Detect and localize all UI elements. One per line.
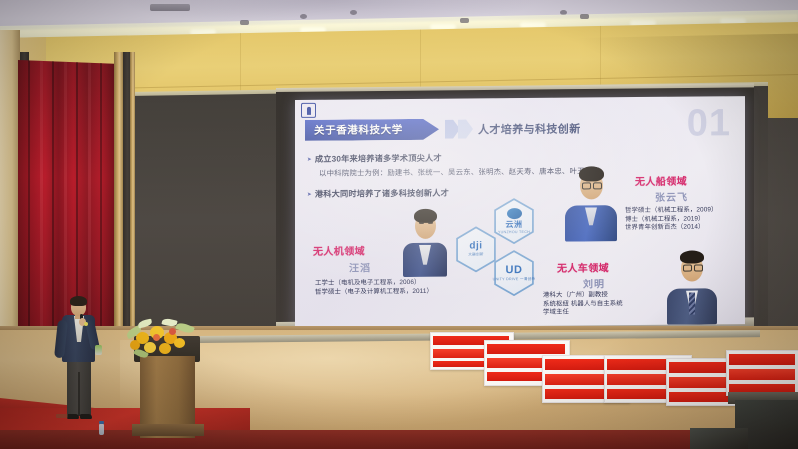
portrait-photo-wang (403, 207, 447, 277)
slide-title: 关于香港科技大学 (314, 122, 403, 138)
water-bottle-cap (99, 421, 104, 424)
podium-base (132, 424, 204, 436)
chevron-right-icon (445, 120, 460, 139)
equipment-case-2 (690, 428, 748, 449)
ceiling-fixture-icon (460, 18, 469, 23)
speaker-lapel-badge (84, 322, 88, 326)
ceiling-fixture-icon (240, 20, 249, 25)
profile-credentials-wang: 工学士（电机及电子工程系，2006） 哲学硕士（电子及计算机工程系，2011） (315, 279, 433, 297)
profile-name-liu: 刘明 (583, 275, 605, 290)
banner-panel (726, 350, 798, 396)
portrait-photo-liu (667, 248, 717, 324)
hkust-logo-icon (301, 103, 316, 118)
dji-logo-subtext: 大疆创新 (468, 252, 484, 257)
profile-domain-vehicle: 无人车领域 (557, 259, 609, 274)
ceiling-fixture-icon (580, 14, 589, 19)
unity-drive-logo-hex: UD UNITY DRIVE 一清创新 (491, 250, 537, 296)
profile-name-zhang: 张云飞 (655, 189, 688, 204)
presentation-photo-scene: 关于香港科技大学 人才培养与科技创新 01 成立30年来培养诸多学术顶尖人才 以… (0, 0, 798, 449)
speaker-shoe-left (67, 414, 79, 419)
profile-domain-drone: 无人机领域 (313, 242, 365, 257)
presenter-clicker-icon (95, 345, 102, 355)
slide-sub-line: 以中科院院士为例：励建书、张统一、吴云东、张明杰、赵天寿、唐本忠、叶玉如等 (319, 165, 600, 178)
stage-front-band (0, 430, 798, 449)
profile-name-wang: 汪滔 (349, 259, 371, 274)
portrait-photo-zhang (565, 163, 617, 241)
slide-bullet-1: 成立30年来培养诸多学术顶尖人才 (307, 152, 442, 165)
speaker-leg-gap (78, 372, 80, 416)
unity-drive-logo-text: UD (506, 265, 523, 276)
section-number-watermark: 01 (687, 104, 731, 142)
water-bottle (99, 424, 104, 435)
profile-domain-vessel: 无人船领域 (635, 173, 687, 188)
profile-credentials-zhang: 哲学硕士（机械工程系，2009） 博士（机械工程系，2019） 世界青年创新百杰… (625, 206, 718, 233)
speaker-shoe-right (80, 414, 92, 419)
chevron-right-icon (458, 119, 473, 138)
unity-drive-logo-subtext: UNITY DRIVE 一清创新 (493, 276, 536, 281)
flower-arrangement (126, 318, 200, 360)
ceiling-vent-icon (150, 4, 190, 11)
slide-title-banner: 关于香港科技大学 (305, 119, 439, 141)
slide-subtitle: 人才培养与科技创新 (478, 121, 581, 138)
yunzhou-logo-subtext: YUNZHOU TECH (498, 230, 530, 234)
profile-credentials-liu: 港科大（广州）副教授 系统枢纽 机器人与自主系统 学域主任 (543, 291, 623, 318)
yunzhou-logo-hex: 云洲 YUNZHOU TECH (491, 198, 537, 244)
slide-bullet-2: 港科大同时培养了诸多科技创新人才 (307, 187, 449, 200)
floor-marker (56, 414, 68, 418)
yunzhou-logo-text: 云洲 (506, 221, 523, 229)
dji-logo-text: dji (469, 241, 482, 251)
speaker-hair (70, 296, 87, 306)
downlight-icon (350, 10, 357, 15)
presentation-slide: 关于香港科技大学 人才培养与科技创新 01 成立30年来培养诸多学术顶尖人才 以… (295, 96, 745, 328)
downlight-icon (300, 14, 307, 19)
yunzhou-mark-icon (507, 208, 522, 219)
